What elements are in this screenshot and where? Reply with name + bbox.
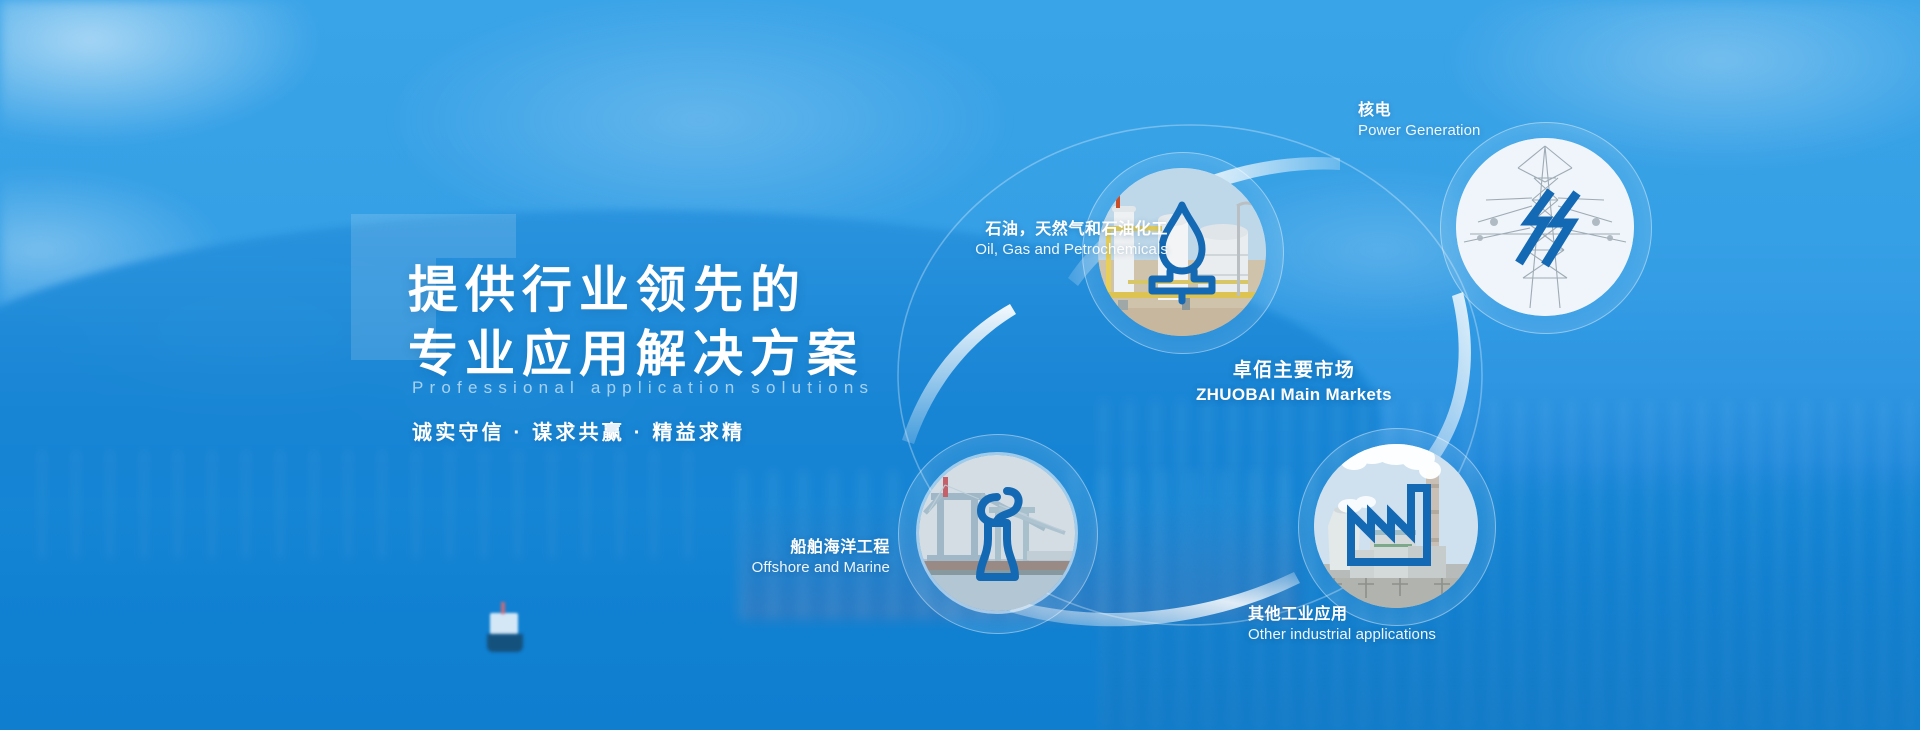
node-label-oil-gas: 石油，天然气和石油化工 Oil, Gas and Petrochemicals <box>906 219 1168 260</box>
node-label-marine: 船舶海洋工程 Offshore and Marine <box>640 537 890 578</box>
node-label-power-en: Power Generation <box>1358 121 1481 141</box>
hero-banner: 提供行业领先的 专业应用解决方案 Professional applicatio… <box>0 0 1920 730</box>
node-label-marine-cn: 船舶海洋工程 <box>640 537 890 558</box>
offshore-platform-icon <box>919 455 1075 611</box>
node-label-marine-en: Offshore and Marine <box>640 558 890 578</box>
node-label-industrial-cn: 其他工业应用 <box>1248 604 1436 625</box>
center-label-cn: 卓佰主要市场 <box>1196 358 1392 383</box>
node-label-industrial: 其他工业应用 Other industrial applications <box>1248 604 1436 645</box>
factory-icon <box>1314 444 1478 608</box>
node-label-oil-gas-cn: 石油，天然气和石油化工 <box>906 219 1168 240</box>
node-label-industrial-en: Other industrial applications <box>1248 625 1436 645</box>
node-power-generation[interactable] <box>1456 138 1634 316</box>
node-offshore-marine[interactable] <box>916 452 1078 614</box>
node-other-industrial[interactable] <box>1314 444 1478 608</box>
arc-marine-to-oil <box>902 304 1016 444</box>
node-label-power-cn: 核电 <box>1358 100 1481 121</box>
node-label-power: 核电 Power Generation <box>1358 100 1481 141</box>
center-label-en: ZHUOBAI Main Markets <box>1196 383 1392 406</box>
diagram-center-label: 卓佰主要市场 ZHUOBAI Main Markets <box>1196 358 1392 406</box>
node-label-oil-gas-en: Oil, Gas and Petrochemicals <box>906 240 1168 260</box>
lightning-bolts-icon <box>1456 138 1634 316</box>
